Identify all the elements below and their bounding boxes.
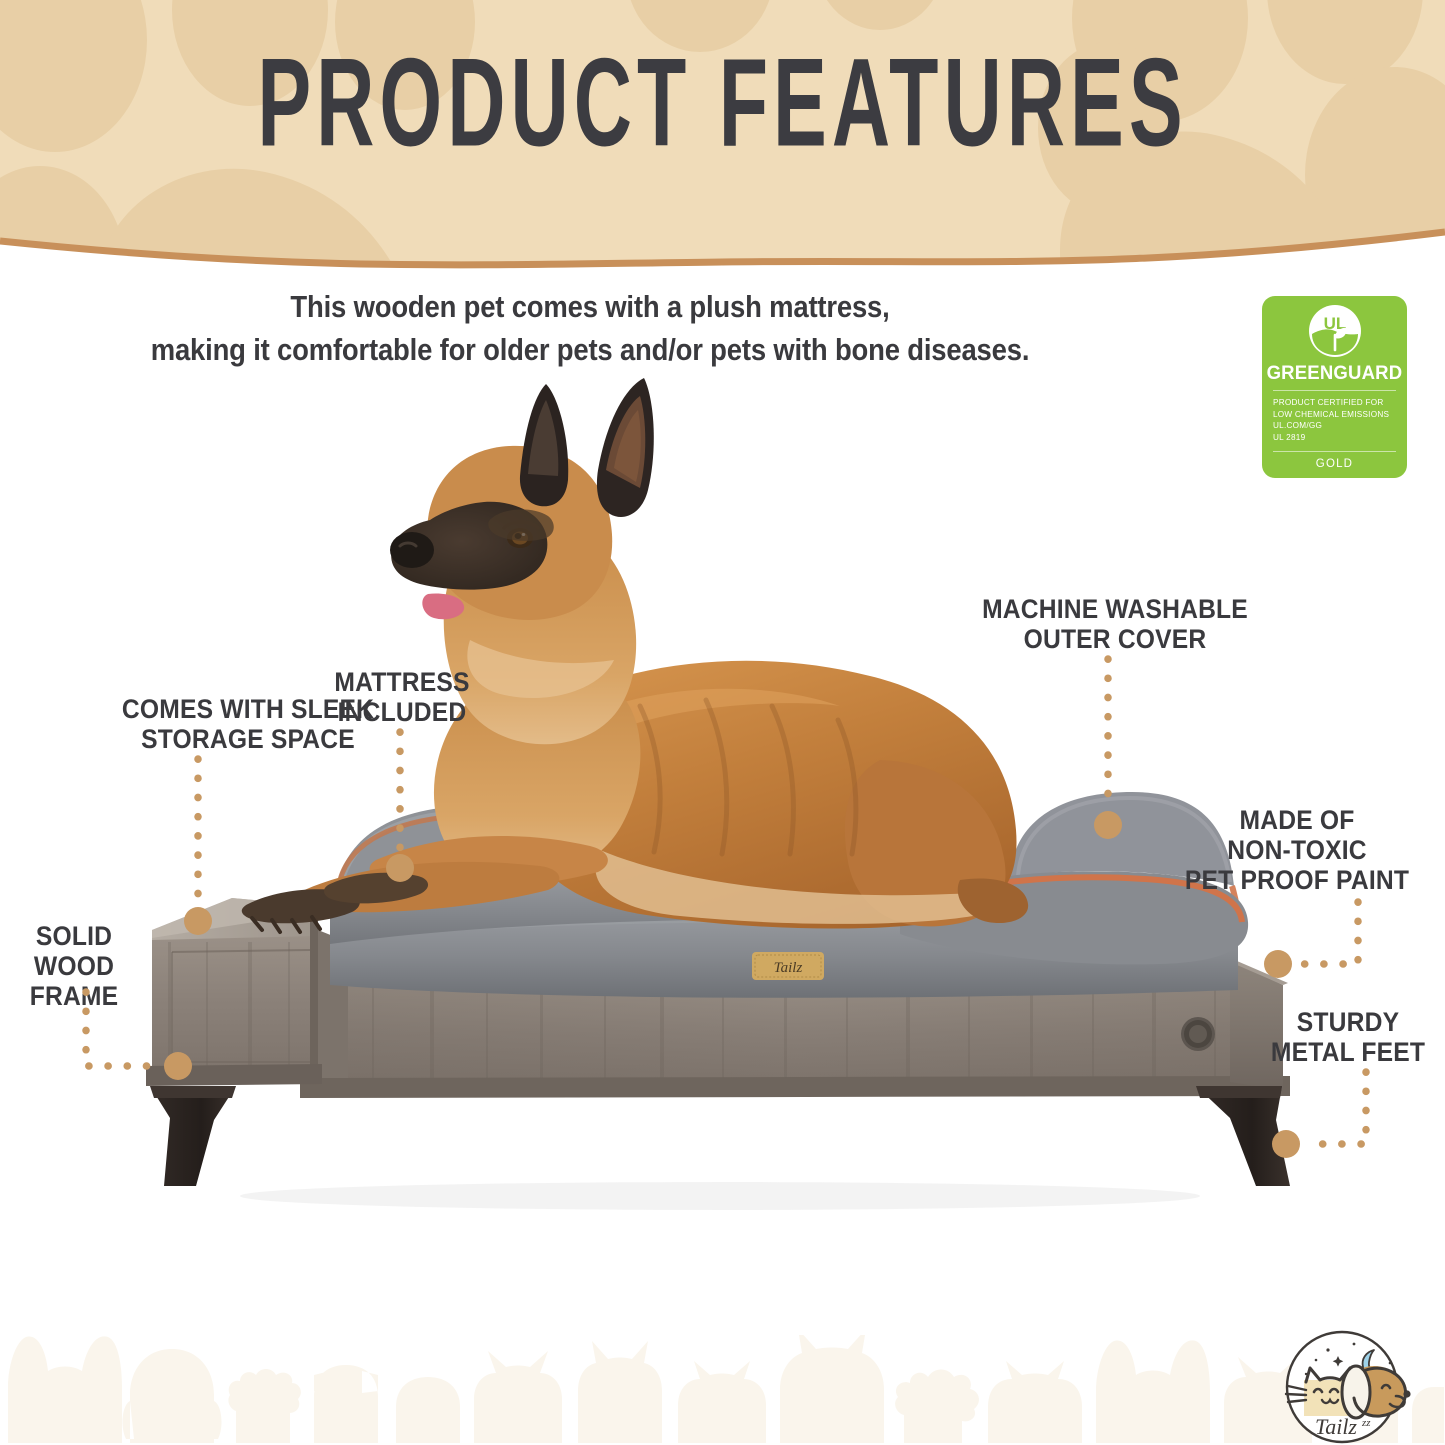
callout-label-paint: MADE OF NON-TOXIC PET PROOF PAINT xyxy=(1162,806,1432,896)
greenguard-badge: UL GREENGUARD PRODUCT CERTIFIED FOR LOW … xyxy=(1262,296,1407,478)
brand-medallion xyxy=(1181,1017,1215,1051)
callout-label-mattress: MATTRESS INCLUDED xyxy=(318,668,485,728)
ul-leaf-icon: UL xyxy=(1308,304,1362,358)
subtitle-line-2: making it comfortable for older pets and… xyxy=(59,329,1121,372)
logo-wordmark: Tailz xyxy=(1315,1414,1357,1439)
product-brand-tag: Tailz xyxy=(752,952,824,980)
front-bolster xyxy=(330,862,1236,948)
certification-details: PRODUCT CERTIFIED FOR LOW CHEMICAL EMISS… xyxy=(1273,397,1396,444)
page-title: PRODUCT FEATURES xyxy=(202,40,1242,165)
certification-level: GOLD xyxy=(1316,458,1353,470)
wood-frame xyxy=(300,930,1290,1098)
mattress: Tailz xyxy=(330,906,1238,998)
leader-line-feet xyxy=(1240,1068,1400,1178)
leader-line-storage xyxy=(190,755,230,940)
cert-line-1: PRODUCT CERTIFIED FOR xyxy=(1273,397,1396,409)
leader-line-paint xyxy=(1254,898,1384,998)
brand-logo: Tailz zz xyxy=(1262,1330,1422,1445)
metal-feet xyxy=(150,1086,1290,1186)
dog xyxy=(242,378,1028,932)
cert-line-4: UL 2819 xyxy=(1273,432,1396,444)
subtitle-line-1: This wooden pet comes with a plush mattr… xyxy=(59,286,1121,329)
callout-label-washable: MACHINE WASHABLE OUTER COVER xyxy=(966,595,1264,655)
leader-line-frame xyxy=(78,988,208,1098)
pet-silhouette-border xyxy=(0,1335,1445,1445)
logo-sleep-marks: zz xyxy=(1361,1417,1371,1429)
cert-line-3: UL.COM/GG xyxy=(1273,420,1396,432)
callout-label-feet: STURDY METAL FEET xyxy=(1255,1008,1441,1068)
greenguard-wordmark: GREENGUARD xyxy=(1267,362,1403,385)
badge-divider-bottom xyxy=(1273,451,1396,452)
leader-line-mattress xyxy=(392,728,432,888)
badge-divider-top xyxy=(1273,390,1396,391)
subtitle: This wooden pet comes with a plush mattr… xyxy=(59,286,1121,373)
leader-line-washable xyxy=(1100,655,1140,850)
svg-text:Tailz: Tailz xyxy=(774,960,803,976)
left-back-bolster xyxy=(338,805,640,880)
header-banner: PRODUCT FEATURES xyxy=(0,0,1445,275)
cert-line-2: LOW CHEMICAL EMISSIONS xyxy=(1273,409,1396,421)
infographic-canvas: PRODUCT FEATURES This wooden pet comes w… xyxy=(0,0,1445,1445)
